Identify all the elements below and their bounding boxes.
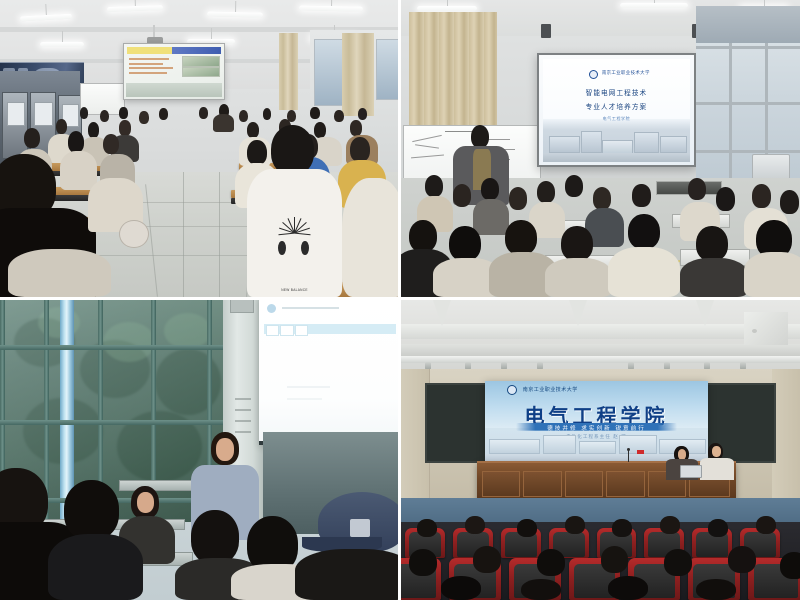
attendee-head [409,549,437,576]
ceiling-light [620,3,688,8]
student-head [103,134,119,155]
auditorium-scene: 南京工业职业技术大学 电气工程学院 德技并修 求实创新 锐意前行 自动化工程系主… [401,300,800,600]
tshirt-figure [278,241,286,255]
student-head [139,111,149,124]
attendee-head [664,549,692,576]
student-head [481,178,499,200]
whiteboard-writing [411,154,444,158]
slide-image [182,56,220,67]
campus-gate [579,441,617,454]
attendee-head [465,516,485,534]
attendee-head [660,516,680,534]
student-head [119,120,131,135]
foreground-student-body [608,247,680,297]
attendee-head [696,579,736,600]
student-head [350,120,362,135]
tshirt-figure [301,241,309,255]
podium-panel [523,471,561,497]
campus-plaza [543,153,689,162]
foreground-student-body [744,252,800,297]
student-body [473,199,509,235]
foreground-student-head [696,226,728,262]
slide-title-line1: 智能电网工程技术 [543,87,689,97]
student-head [247,140,267,165]
campus-building [489,439,540,454]
university-name: 南京工业职业技术大学 [602,70,650,76]
lab-classroom-scene: NEW BALANCE [0,0,398,297]
curtain [342,33,374,116]
campus-building [581,131,602,153]
attendee-head [473,546,501,573]
ceiling-light [207,11,263,17]
screen-tab [266,325,279,336]
foreground-student-head [449,226,481,262]
screen-tab [280,325,293,336]
attendee-head [521,579,561,600]
photo-collage: NEW BALANCE [0,0,800,600]
foreground-student-head [64,480,120,540]
ceiling-beam [401,324,800,339]
foreground-student-head [628,214,660,250]
student-head [100,110,109,122]
ceiling-facet [696,300,714,326]
podium-panel [482,471,520,497]
ceiling-facet [744,312,788,345]
microphone [628,450,629,462]
projection-screen: 南京工业职业技术大学 智能电网工程技术 专业人才培养方案 电气工程学院 [537,53,697,167]
ceiling-light [40,42,84,47]
window-mullion [696,150,800,153]
student-body [60,151,98,190]
student-head [24,128,40,149]
foreground-student-head [271,125,315,175]
student-head [350,137,370,162]
student-head [88,122,100,138]
student-head [247,122,259,138]
curtain [279,33,299,110]
column-mark [235,420,251,422]
ceiling-light [298,5,362,11]
campus-building [549,136,580,153]
window-outside-building [696,6,800,43]
attendee-head [417,519,437,537]
student-head [537,181,555,203]
title-slide: 南京工业职业技术大学 智能电网工程技术 专业人才培养方案 电气工程学院 [543,59,689,162]
attendee-head [756,516,776,534]
laptop [680,465,702,478]
air-conditioner [752,154,790,180]
window-mullion [696,46,800,49]
slide-text-line [129,67,173,69]
panel-bottom-left [0,300,398,600]
wall-vent [230,300,254,313]
slide-text-line [129,72,167,74]
student-head [593,187,611,210]
foreground-student-head [409,220,437,253]
attendee-head [708,519,728,537]
slide-image [182,67,220,77]
cap-logo-icon [350,519,370,537]
attendee-head [537,549,565,576]
window-frame [0,345,235,350]
window-frame [0,420,235,425]
campus-gate [602,140,633,154]
attendee-head [780,552,800,579]
foreground-student-body [8,249,111,297]
floor-tile-line [219,172,220,297]
university-logo-icon [589,70,598,79]
wall-panel [772,369,800,504]
slide-text-line [129,63,163,65]
screen-text-line [287,398,321,400]
ceiling-dome-camera-icon [752,329,757,333]
cabinet-panel [34,102,53,126]
foreground-student-head [561,226,593,262]
whiteboard-writing [488,139,510,140]
ceiling-facet [569,300,587,326]
slide-footer-image [126,83,222,97]
ceiling-facet [433,300,451,326]
student-head [425,175,443,197]
host-face [712,446,721,457]
column-mark [235,409,251,411]
student-head [509,187,527,210]
attendee-head [728,546,756,573]
slide-title-line2: 专业人才培养方案 [543,101,689,111]
student-head [716,187,735,211]
attendee-head [565,516,585,534]
column-mark [235,431,251,433]
speaker-face [216,438,234,461]
student-head [119,107,127,119]
instructor-body [213,114,235,132]
student-face [137,492,155,513]
podium-panel [565,471,603,497]
attendee-head [608,576,648,600]
foreground-student-body: NEW BALANCE [247,169,343,297]
panel-top-left: NEW BALANCE [0,0,398,297]
foreground-student-body [545,258,613,297]
student-head [159,108,168,120]
foreground-student-head [505,220,537,256]
university-name: 南京工业职业技术大学 [523,386,578,393]
screen-tab [295,325,308,336]
projection-screen [123,43,225,100]
screen-text-line [282,307,339,309]
slide-text-line [129,58,169,60]
podium-panel [606,471,644,497]
foreground-student-body [680,258,748,297]
student-head [239,110,248,122]
projection-screen [259,300,398,445]
student-head [453,184,471,207]
student-head [752,184,771,208]
attendee-head [601,546,629,573]
screen-text-line [287,386,330,388]
attendee-head [517,519,537,537]
ceiling-light [417,6,477,11]
ceiling-beam [401,344,800,356]
cabinet-panel [7,102,26,126]
tshirt-brand-text: NEW BALANCE [247,288,343,292]
student-head [310,107,319,119]
whiteboard-writing [412,135,441,142]
window-classroom-scene [0,300,398,600]
panel-bottom-right: 南京工业职业技术大学 电气工程学院 德技并修 求实创新 锐意前行 自动化工程系主… [401,300,800,600]
whiteboard-writing [415,145,439,149]
host-body [700,458,734,481]
lecture-hall-scene: 南京工业职业技术大学 智能电网工程技术 专业人才培养方案 电气工程学院 [401,0,800,297]
campus-building [660,136,687,153]
attendee-head [441,576,481,600]
student-head [68,131,85,153]
wall-speaker [541,24,551,38]
student-head [780,190,799,214]
window-mullion [696,102,800,105]
student-head [80,107,89,119]
campus-building [543,435,576,454]
equipment-cabinet [2,92,28,159]
student-head [565,175,583,197]
column-mark [235,398,251,400]
window [376,39,398,100]
student-head [632,184,650,207]
floor-tile-line [183,172,184,297]
panel-top-right: 南京工业职业技术大学 智能电网工程技术 专业人才培养方案 电气工程学院 [401,0,800,297]
foreground-student-head [191,510,239,564]
foreground-student-body [48,534,144,600]
student-head [56,119,67,134]
foreground-student-body [295,549,398,600]
screen-logo-icon [267,304,276,313]
presenter-head [471,125,489,149]
slide-header-bar [127,47,221,54]
campus-building [634,132,659,152]
student-head [199,107,208,119]
campus-photo [543,119,689,162]
attendee-head [612,519,632,537]
student-body [342,178,398,297]
student-head [334,110,344,122]
student-head [314,122,326,138]
window [314,39,344,106]
tshirt-fireworks-graphic [275,197,313,235]
student-head [688,178,706,200]
